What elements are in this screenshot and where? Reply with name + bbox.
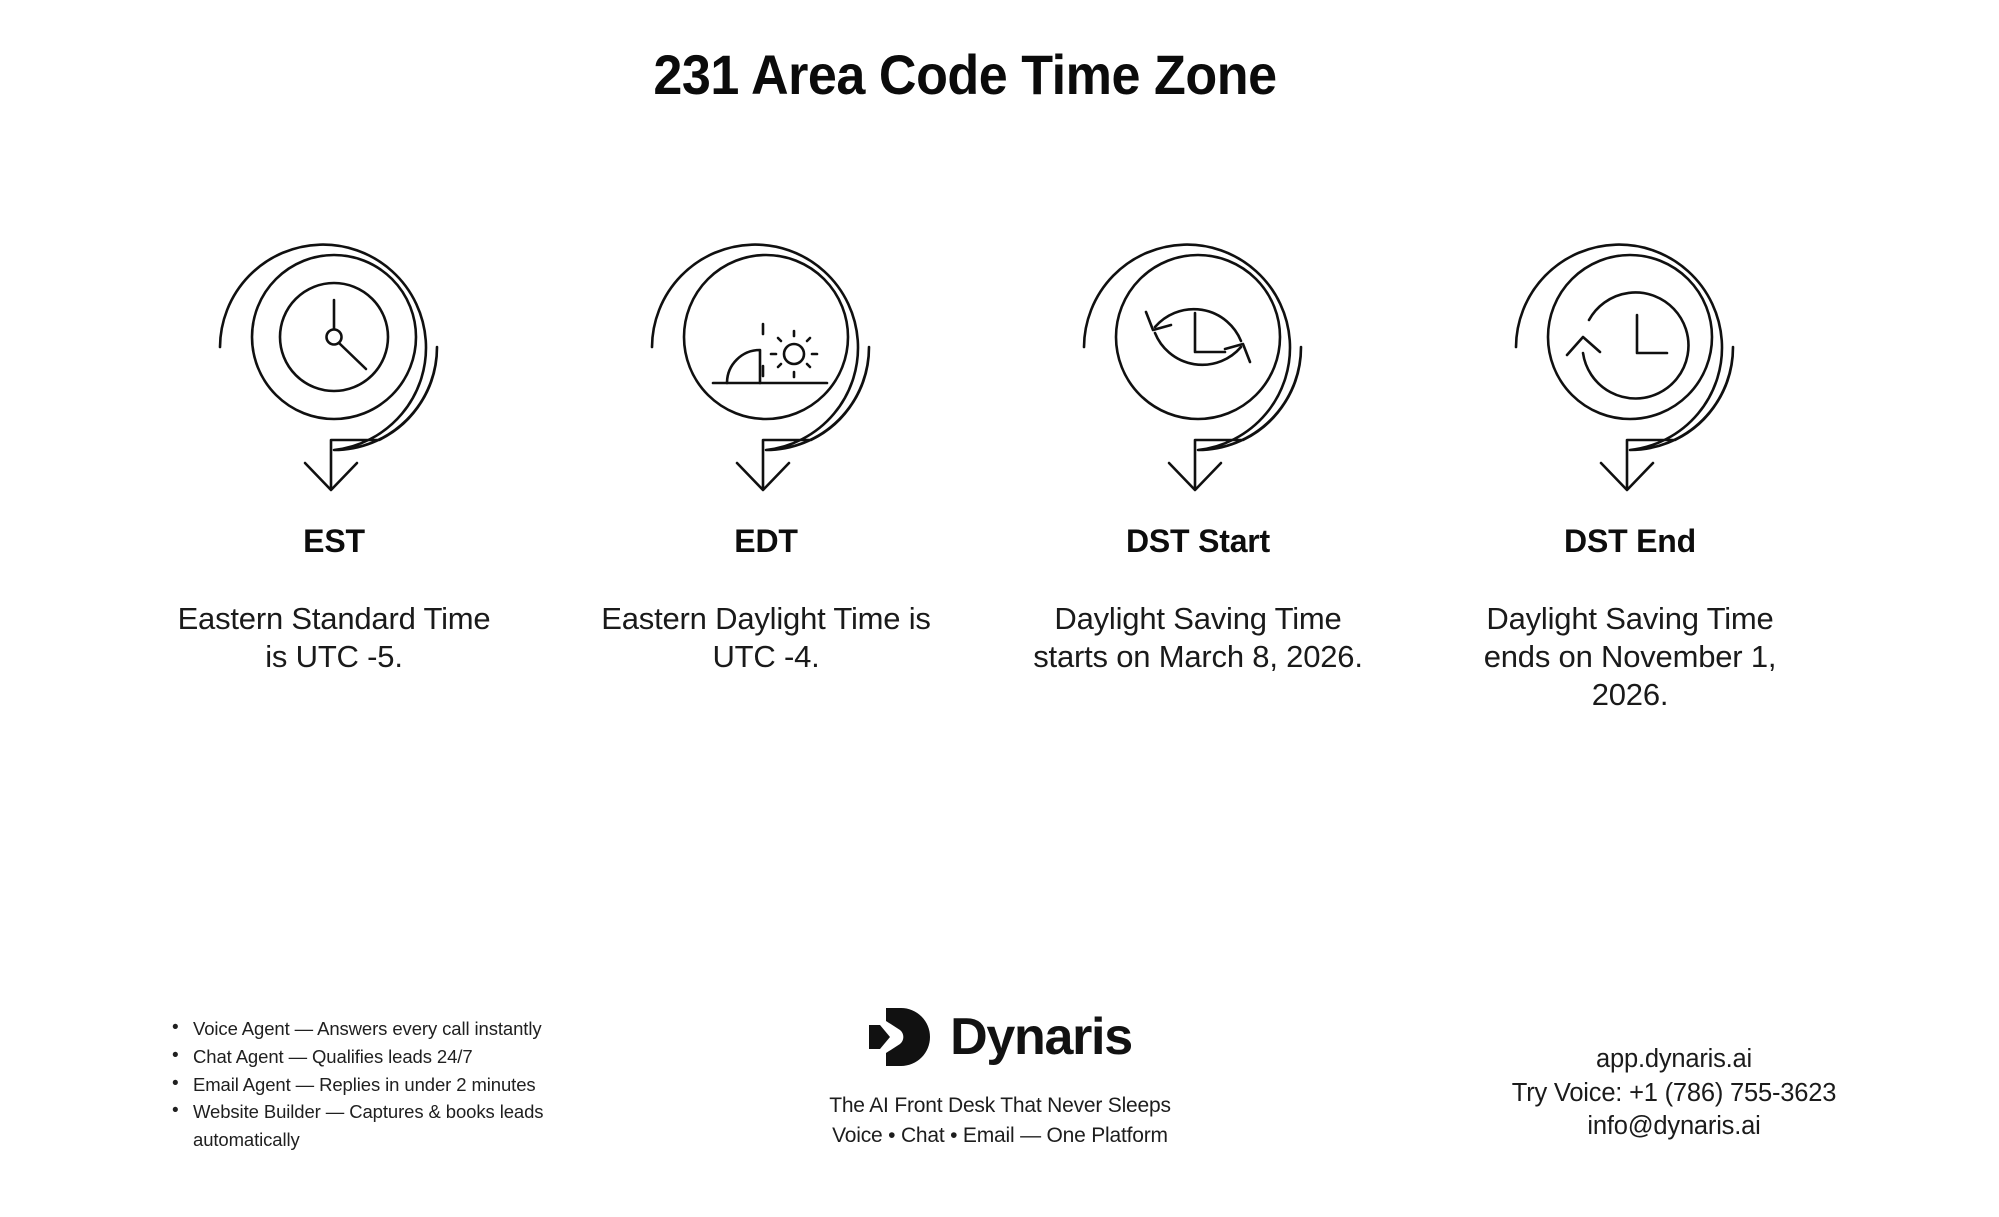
brand-name: Dynaris [950,1011,1132,1063]
contact-block: app.dynaris.ai Try Voice: +1 (786) 755-3… [1444,1043,1904,1144]
timezone-card-dst-end: DST End Daylight Saving Time ends on Nov… [1414,205,1846,713]
card-label: DST Start [1126,523,1270,560]
brand-lockup: Dynaris [868,1000,1132,1074]
contact-email[interactable]: info@dynaris.ai [1444,1110,1904,1144]
list-item: Voice Agent — Answers every call instant… [170,1015,640,1043]
clock-refresh-spiral-arrow-icon [1073,205,1323,505]
footer: Voice Agent — Answers every call instant… [0,1000,1999,1217]
clock-rotate-left-spiral-arrow-icon [1505,205,1755,505]
brand-block: Dynaris The AI Front Desk That Never Sle… [740,1000,1260,1148]
list-item: Email Agent — Replies in under 2 minutes [170,1071,640,1099]
card-label: EST [303,523,365,560]
timezone-card-est: EST Eastern Standard Time is UTC -5. [118,205,550,676]
dynaris-d-logo-icon [868,1006,934,1068]
card-label: EDT [734,523,797,560]
list-item: Website Builder — Captures & books leads… [170,1098,640,1154]
timezone-card-edt: EDT Eastern Daylight Time is UTC -4. [550,205,982,676]
clock-spiral-arrow-icon [209,205,459,505]
contact-website[interactable]: app.dynaris.ai [1444,1043,1904,1077]
card-description: Daylight Saving Time starts on March 8, … [1031,600,1366,676]
card-description: Eastern Standard Time is UTC -5. [167,600,502,676]
timezone-card-row: EST Eastern Standard Time is UTC -5. [118,205,1908,713]
feature-list: Voice Agent — Answers every call instant… [170,1015,640,1154]
card-label: DST End [1564,523,1696,560]
poster-canvas: 231 Area Code Time Zone [0,0,1999,1217]
contact-phone[interactable]: Try Voice: +1 (786) 755-3623 [1444,1077,1904,1111]
list-item: Chat Agent — Qualifies leads 24/7 [170,1043,640,1071]
sunrise-spiral-arrow-icon [641,205,891,505]
card-description: Daylight Saving Time ends on November 1,… [1463,600,1798,713]
brand-subtagline: Voice • Chat • Email — One Platform [832,1124,1168,1148]
page-title: 231 Area Code Time Zone [68,42,1863,107]
brand-tagline: The AI Front Desk That Never Sleeps [829,1094,1171,1118]
card-description: Eastern Daylight Time is UTC -4. [599,600,934,676]
timezone-card-dst-start: DST Start Daylight Saving Time starts on… [982,205,1414,676]
